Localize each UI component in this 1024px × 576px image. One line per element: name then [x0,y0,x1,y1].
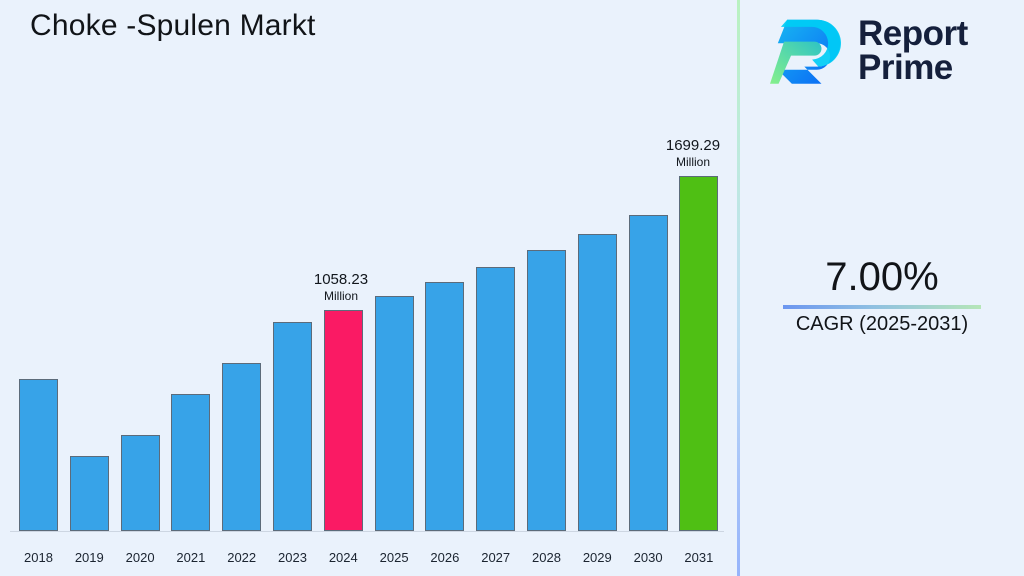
page-title: Choke -Spulen Markt [30,9,316,43]
cagr-block: 7.00% CAGR (2025-2031) [748,255,1016,336]
x-axis-label-2026: 2026 [419,550,470,565]
x-axis-label-2031: 2031 [673,550,724,565]
x-axis-label-2029: 2029 [572,550,623,565]
x-axis-label-2020: 2020 [115,550,166,565]
x-axis-label-2023: 2023 [267,550,318,565]
callout-amount: 1058.23 [271,271,411,289]
cagr-caption: CAGR (2025-2031) [748,313,1016,336]
x-axis-label-2019: 2019 [64,550,115,565]
x-axis-label-2025: 2025 [369,550,420,565]
x-axis-label-2028: 2028 [521,550,572,565]
bar-2022[interactable] [222,363,261,531]
x-axis-label-2021: 2021 [165,550,216,565]
bar-2024[interactable] [324,310,363,531]
bar-2027[interactable] [476,267,515,531]
x-axis-label-2022: 2022 [216,550,267,565]
x-axis-label-2018: 2018 [13,550,64,565]
value-callout-base-year: 1058.23 Million [271,271,411,303]
cagr-value: 7.00% [748,255,1016,300]
brand-name-line-1: Report [858,17,968,51]
bar-2019[interactable] [70,456,109,531]
right-panel: Report Prime 7.00% CAGR (2025-2031) [740,0,1024,576]
cagr-divider [783,305,981,309]
brand-wordmark: Report Prime [858,17,968,84]
x-axis-line [10,531,724,532]
report-infographic-page: Choke -Spulen Markt 20182019202020212022… [0,0,1024,576]
x-axis-label-2030: 2030 [623,550,674,565]
bar-2025[interactable] [375,296,414,531]
x-axis-label-2027: 2027 [470,550,521,565]
report-prime-logo-icon [770,15,848,87]
bar-chart: Choke -Spulen Markt 20182019202020212022… [0,0,737,576]
bar-2021[interactable] [171,394,210,531]
bar-2020[interactable] [121,435,160,531]
bar-2018[interactable] [19,379,58,531]
bar-2026[interactable] [425,282,464,531]
bar-2029[interactable] [578,234,617,531]
brand-name-line-2: Prime [858,51,968,85]
bar-2023[interactable] [273,322,312,531]
bar-2028[interactable] [527,250,566,531]
x-axis-label-2024: 2024 [318,550,369,565]
bar-2030[interactable] [629,215,668,531]
bar-2031[interactable] [679,176,718,531]
brand-logo: Report Prime [770,12,1002,90]
callout-unit: Million [271,289,411,303]
